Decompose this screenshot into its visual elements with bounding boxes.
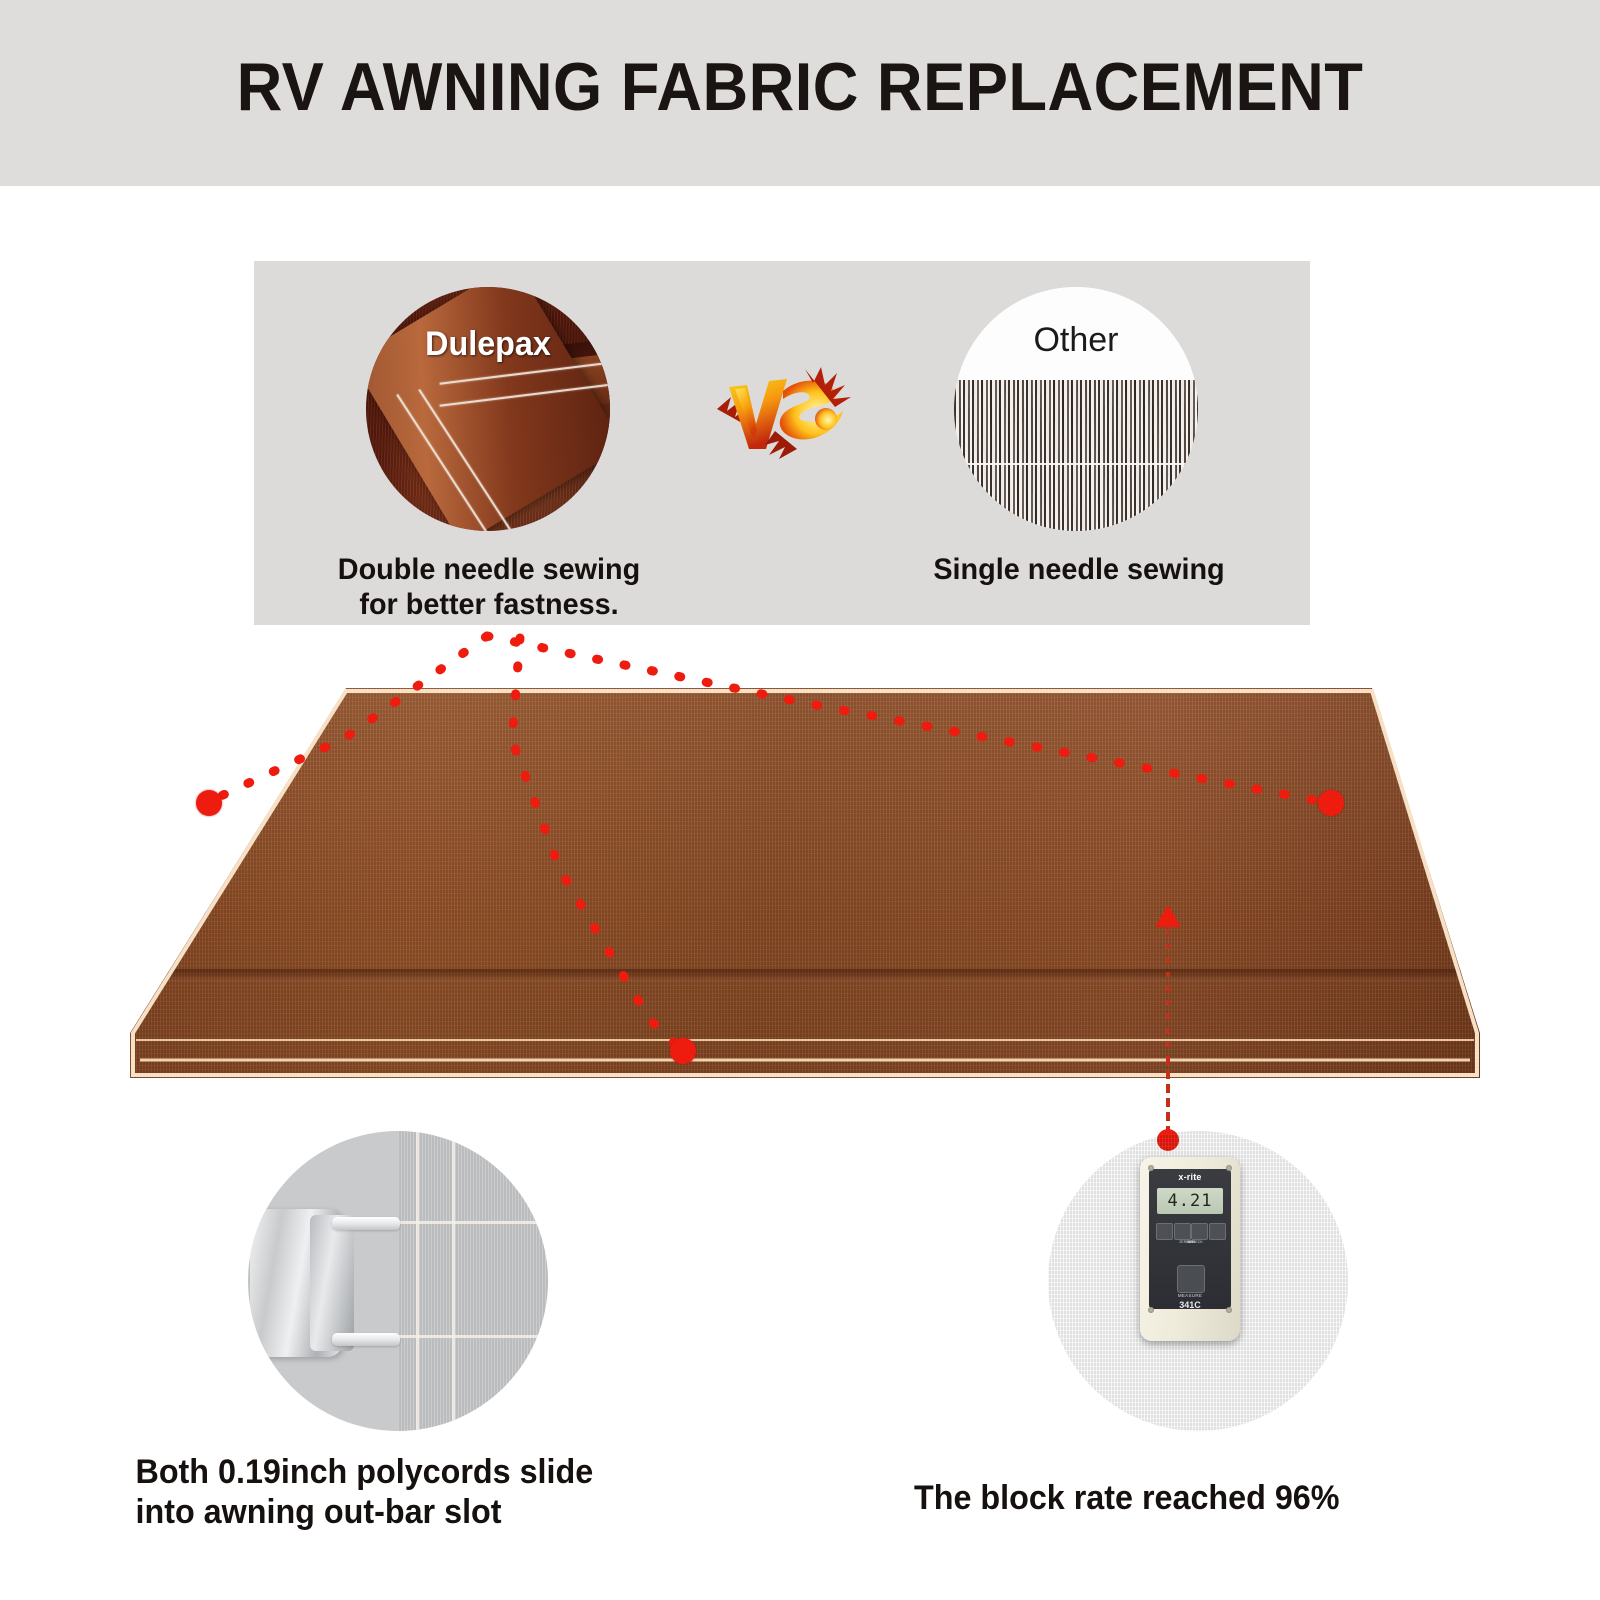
- right-comparison-caption: Single needle sewing: [901, 553, 1256, 588]
- device-button-off[interactable]: OFF: [1156, 1223, 1173, 1240]
- caption-line-2: for better fastness.: [321, 588, 657, 623]
- header-bar: RV AWNING FABRIC REPLACEMENT: [0, 0, 1600, 186]
- comparison-panel: Dulepax: [254, 261, 1310, 625]
- device-reading-value: 4.21: [1168, 1191, 1213, 1211]
- device-measure-button[interactable]: [1177, 1265, 1205, 1293]
- callout-lines: [0, 620, 1600, 1100]
- polycord-bottom: [332, 1333, 400, 1346]
- fabric-seam: [398, 1335, 548, 1338]
- left-comparison-caption: Double needle sewing for better fastness…: [321, 553, 657, 623]
- caption-line-2: into awning out-bar slot: [136, 1492, 725, 1532]
- device-button-dt[interactable]: D/T: [1191, 1223, 1208, 1240]
- page-title: RV AWNING FABRIC REPLACEMENT: [56, 48, 1544, 126]
- device-screw-icon: [1148, 1165, 1154, 1171]
- caption-line-1: Double needle sewing: [321, 553, 657, 588]
- device-screw-icon: [1226, 1165, 1232, 1171]
- other-badge-label: Other: [954, 321, 1198, 360]
- infographic-root: RV AWNING FABRIC REPLACEMENT Dulepax: [0, 0, 1600, 1600]
- device-screw-icon: [1226, 1307, 1232, 1313]
- device-screw-icon: [1148, 1307, 1154, 1313]
- fabric-seam: [416, 1131, 419, 1431]
- fabric-seam: [398, 1221, 548, 1224]
- device-lcd-screen: 4.21: [1157, 1188, 1223, 1214]
- polycord-detail-image: [248, 1131, 548, 1431]
- caption-line-1: The block rate reached 96%: [914, 1478, 1446, 1518]
- versus-icon: [709, 361, 855, 459]
- block-rate-detail-image: x-rite 4.21 OFF ZERO/CHECK D/T NULL: [1048, 1131, 1348, 1431]
- caption-line-1: Both 0.19inch polycords slide: [136, 1452, 725, 1492]
- device-face-panel: x-rite 4.21 OFF ZERO/CHECK D/T NULL: [1149, 1169, 1231, 1309]
- dulepax-fabric-image: [366, 287, 610, 531]
- device-button-zero-check[interactable]: ZERO/CHECK: [1174, 1223, 1191, 1240]
- polycord-caption: Both 0.19inch polycords slide into awnin…: [136, 1452, 725, 1532]
- fabric-seam: [452, 1131, 455, 1431]
- block-rate-caption: The block rate reached 96%: [914, 1478, 1446, 1518]
- out-bar-slot: [310, 1215, 354, 1351]
- detail-fabric-area: [398, 1131, 548, 1431]
- single-stitch-line: [954, 463, 1198, 465]
- caption-line-1: Single needle sewing: [901, 553, 1256, 588]
- measurement-arrow-icon: [1155, 905, 1181, 927]
- device-measure-label: MEASURE: [1149, 1293, 1231, 1298]
- device-button-null-label: NULL: [1156, 1240, 1226, 1244]
- device-model-label: 341C: [1149, 1300, 1231, 1310]
- device-button-null[interactable]: NULL: [1209, 1223, 1226, 1240]
- dulepax-badge-label: Dulepax: [372, 325, 604, 364]
- awning-illustration: [0, 620, 1600, 1100]
- device-brand-label: x-rite: [1149, 1172, 1231, 1182]
- polycord-top: [332, 1217, 400, 1230]
- meter-connector-line: [0, 1060, 1600, 1170]
- callout-marker-right: [1318, 790, 1344, 816]
- densitometer-device: x-rite 4.21 OFF ZERO/CHECK D/T NULL: [1140, 1157, 1240, 1341]
- fabric-worn-texture: [954, 380, 1198, 531]
- device-button-row: OFF ZERO/CHECK D/T NULL: [1156, 1223, 1226, 1245]
- callout-marker-left: [196, 790, 222, 816]
